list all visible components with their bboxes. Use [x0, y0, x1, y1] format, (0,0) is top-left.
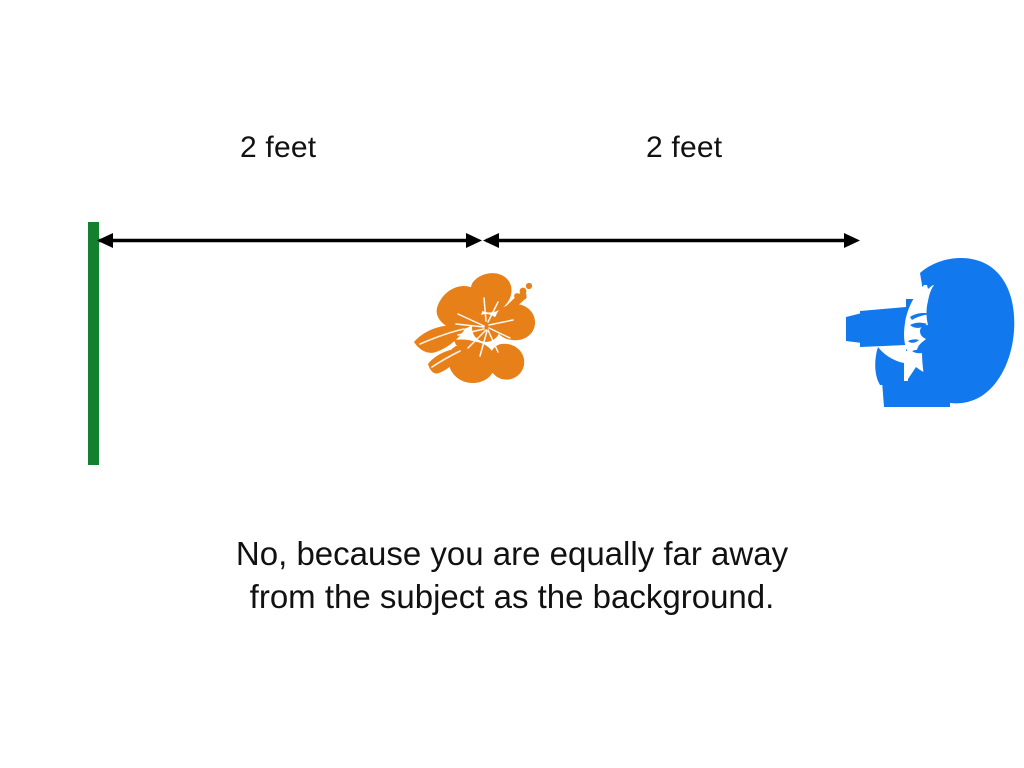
distance-label-right: 2 feet	[646, 133, 722, 163]
photographer-with-camera-icon	[846, 255, 1018, 407]
measurement-arrows	[88, 222, 878, 262]
subject-flower	[410, 272, 546, 387]
left-arrowhead-start-icon	[97, 233, 113, 248]
right-arrowhead-end-icon	[844, 233, 860, 248]
hibiscus-flower-icon	[410, 272, 546, 387]
caption-line-2: from the subject as the background.	[0, 575, 1024, 618]
slide-canvas: 2 feet 2 feet	[0, 0, 1024, 768]
distance-label-left: 2 feet	[240, 133, 316, 163]
caption-line-1: No, because you are equally far away	[0, 532, 1024, 575]
caption-text: No, because you are equally far away fro…	[0, 532, 1024, 618]
left-arrowhead-end-icon	[466, 233, 482, 248]
right-distance-arrow	[483, 233, 860, 248]
right-arrowhead-start-icon	[483, 233, 499, 248]
photographer-figure	[846, 255, 1018, 407]
measurement-arrows-svg	[88, 222, 878, 262]
left-distance-arrow	[97, 233, 482, 248]
